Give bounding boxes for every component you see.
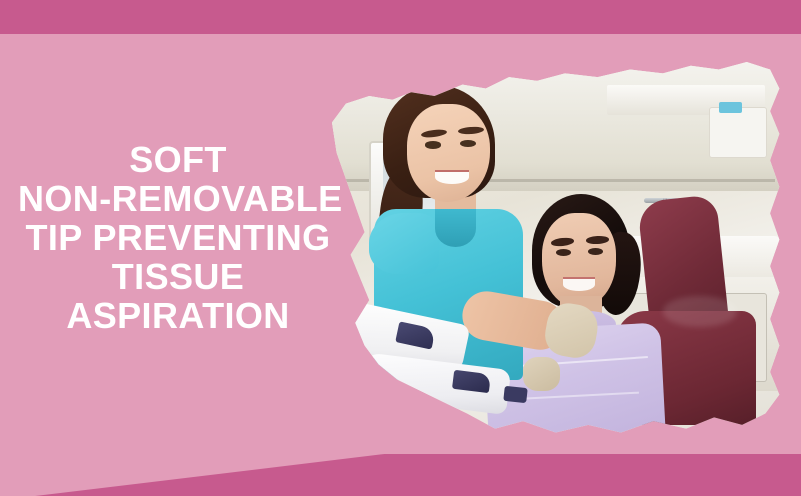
- promo-banner: SOFT NON-REMOVABLE TIP PREVENTING TISSUE…: [0, 0, 801, 496]
- headline-line-4: TISSUE: [18, 257, 338, 296]
- wall-control-panel-tab: [719, 102, 742, 113]
- hygienist-eye-right: [460, 140, 476, 147]
- patient-eye-right: [588, 248, 603, 255]
- headline-line-2: NON-REMOVABLE: [18, 179, 338, 218]
- hygienist-shoulder: [369, 213, 439, 273]
- hygienist-smile: [435, 170, 470, 184]
- headline: SOFT NON-REMOVABLE TIP PREVENTING TISSUE…: [18, 140, 338, 335]
- patient-smile: [563, 277, 596, 290]
- dental-chair-highlight: [663, 296, 738, 326]
- headline-line-3: TIP PREVENTING: [18, 218, 338, 257]
- dental-handpiece-tip: [504, 386, 529, 403]
- headline-line-1: SOFT: [18, 140, 338, 179]
- bottom-accent-band: [0, 454, 801, 496]
- top-accent-band: [0, 0, 801, 34]
- wall-control-panel: [709, 107, 767, 158]
- hygienist-eye-left: [425, 141, 441, 148]
- hygienist-glove-lower: [523, 357, 560, 391]
- hygienist-face: [407, 104, 491, 202]
- headline-line-5: ASPIRATION: [18, 296, 338, 335]
- patient-eye-left: [556, 249, 571, 256]
- clinic-photo: [318, 62, 784, 440]
- patient-face: [542, 213, 617, 308]
